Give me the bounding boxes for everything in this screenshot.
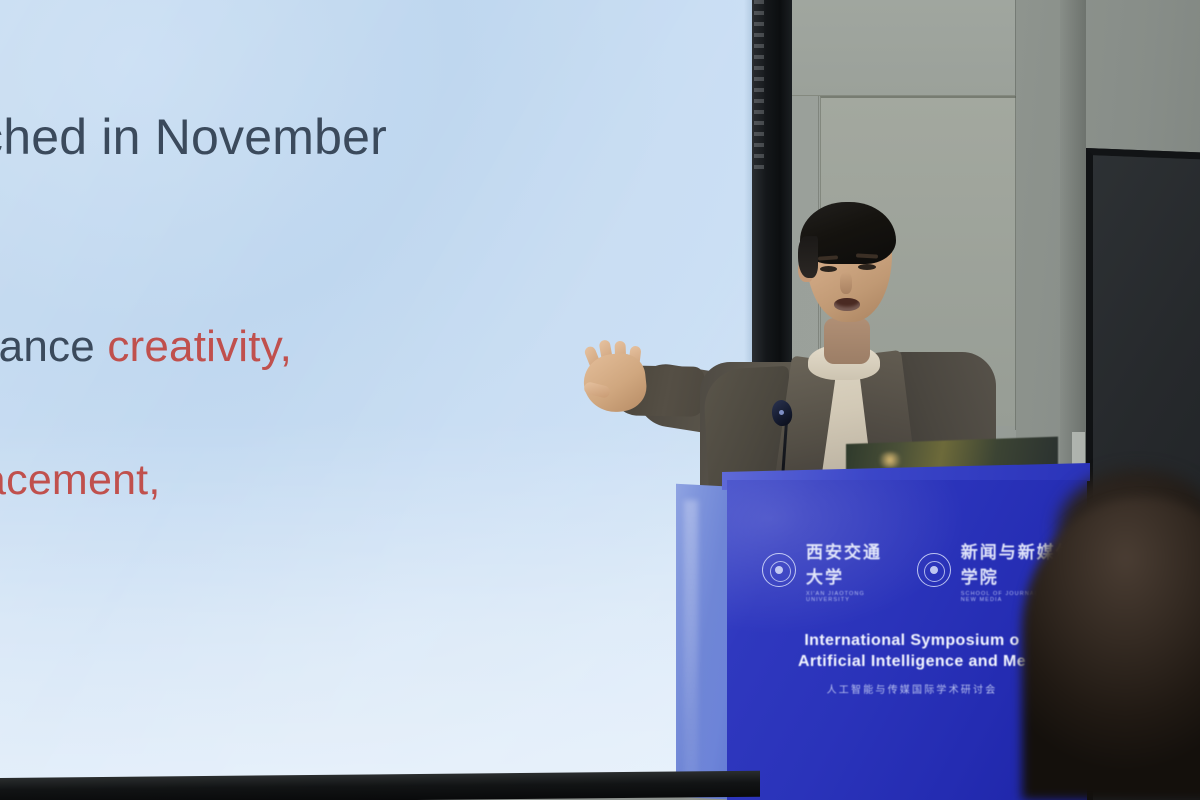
school-crest-icon (917, 553, 951, 587)
logo-xjtu-en: XI'AN JIAOTONG UNIVERSITY (806, 591, 895, 603)
slide-text-line-2-prefix: hance (0, 322, 107, 371)
speaker-mouth (834, 298, 860, 311)
speaker-nose (840, 272, 852, 294)
laptop-reflection (876, 452, 904, 468)
microphone-indicator-light (779, 410, 784, 415)
speaker-sideburn (798, 236, 818, 278)
wall-panel-upper (790, 0, 1015, 96)
slide-text-line-2: hance creativity, (0, 322, 292, 372)
university-crest-icon (762, 553, 796, 587)
slide-text-line-3: acement, (0, 456, 160, 505)
logo-xjtu-cn: 西安交通大学 (806, 538, 895, 588)
slide-text-line-2-suffix: , (280, 322, 292, 371)
slide-text-highlight-creativity: creativity (107, 322, 279, 371)
speaker-neck (824, 318, 870, 364)
logo-xjtu: 西安交通大学 XI'AN JIAOTONG UNIVERSITY (762, 538, 895, 603)
speaker-eye-right (858, 264, 876, 270)
presentation-photo: ched in November hance creativity, aceme… (0, 0, 1200, 800)
podium-side-highlight (684, 500, 698, 800)
slide-text-line-1: ched in November (0, 108, 387, 166)
speaker-eye-left (820, 266, 837, 272)
logo-xjtu-wordmark: 西安交通大学 XI'AN JIAOTONG UNIVERSITY (806, 538, 895, 603)
